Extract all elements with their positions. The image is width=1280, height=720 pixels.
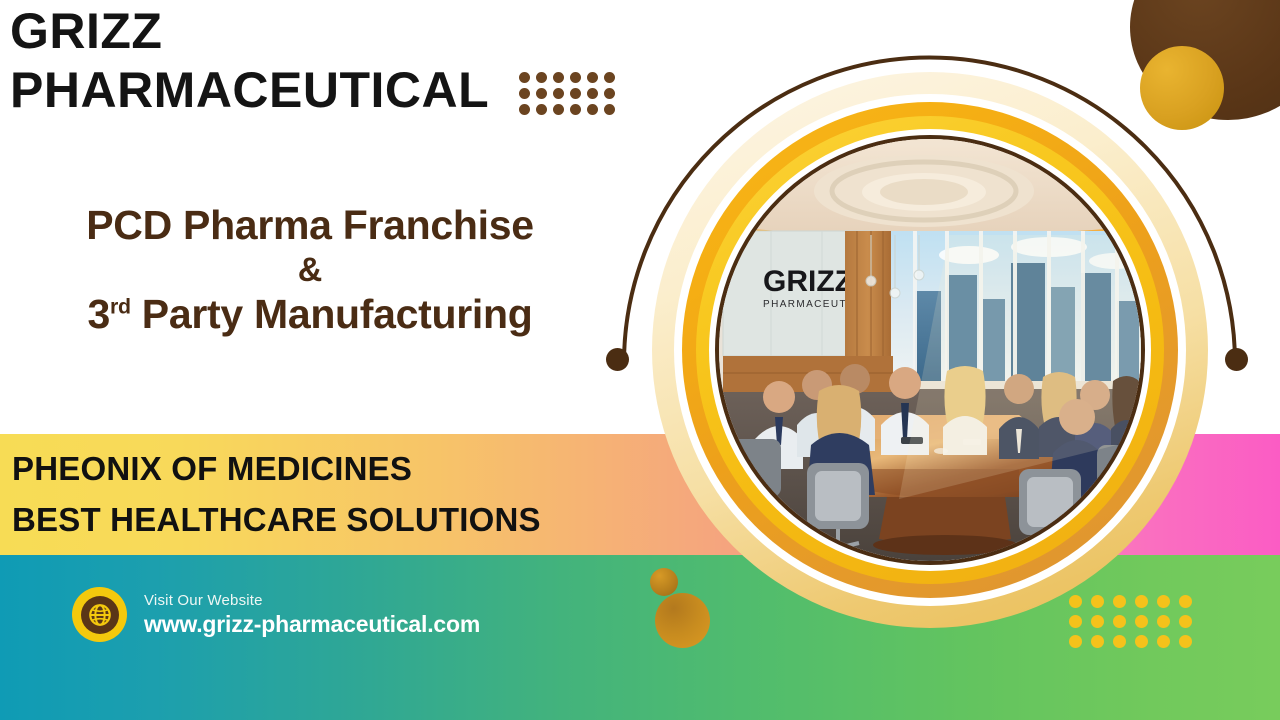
tagline-line-1: PHEONIX OF MEDICINES: [12, 443, 712, 494]
dot: [570, 104, 581, 115]
website-link[interactable]: Visit Our Website www.grizz-pharmaceutic…: [72, 587, 480, 642]
brand-header: GRIZZ PHARMACEUTICAL: [10, 2, 710, 120]
dot: [536, 88, 547, 99]
svg-text:GRIZZ: GRIZZ: [763, 265, 853, 298]
brand-name-line1: GRIZZ: [10, 2, 710, 61]
brand-name-line2: PHARMACEUTICAL: [10, 61, 489, 120]
dot: [553, 72, 564, 83]
dot: [519, 104, 530, 115]
dot: [536, 104, 547, 115]
arc-terminal-dot-right: [1225, 348, 1248, 371]
headline-block: PCD Pharma Franchise & 3rd Party Manufac…: [0, 200, 620, 340]
dot: [519, 88, 530, 99]
dot: [553, 104, 564, 115]
website-url: www.grizz-pharmaceutical.com: [144, 610, 480, 639]
headline-line-3: 3rd Party Manufacturing: [0, 289, 620, 340]
website-label: Visit Our Website: [144, 591, 480, 610]
circular-photo-frame: GRIZZ PHARMACEUTICAL: [612, 40, 1262, 690]
headline-line-1: PCD Pharma Franchise: [0, 200, 620, 251]
headline-line-3-rest: Party Manufacturing: [131, 291, 533, 337]
headline-ordinal-suffix: rd: [110, 294, 131, 318]
promotional-banner: GRIZZ PHARMACEUTICAL PCD Pharma Franchis…: [0, 0, 1280, 720]
dot: [587, 104, 598, 115]
boardroom-meeting-photo: GRIZZ PHARMACEUTICAL: [719, 139, 1141, 561]
headline-ampersand: &: [0, 251, 620, 289]
dot: [553, 88, 564, 99]
dot: [587, 72, 598, 83]
globe-icon: [72, 587, 127, 642]
tagline-line-2: BEST HEALTHCARE SOLUTIONS: [12, 494, 712, 545]
arc-terminal-dot-left: [606, 348, 629, 371]
dot-grid-icon: [519, 72, 615, 115]
dot: [519, 72, 530, 83]
dot: [536, 72, 547, 83]
tagline-block: PHEONIX OF MEDICINES BEST HEALTHCARE SOL…: [12, 443, 712, 545]
dot: [570, 72, 581, 83]
dot: [587, 88, 598, 99]
headline-ordinal-number: 3: [87, 291, 110, 337]
dot: [570, 88, 581, 99]
